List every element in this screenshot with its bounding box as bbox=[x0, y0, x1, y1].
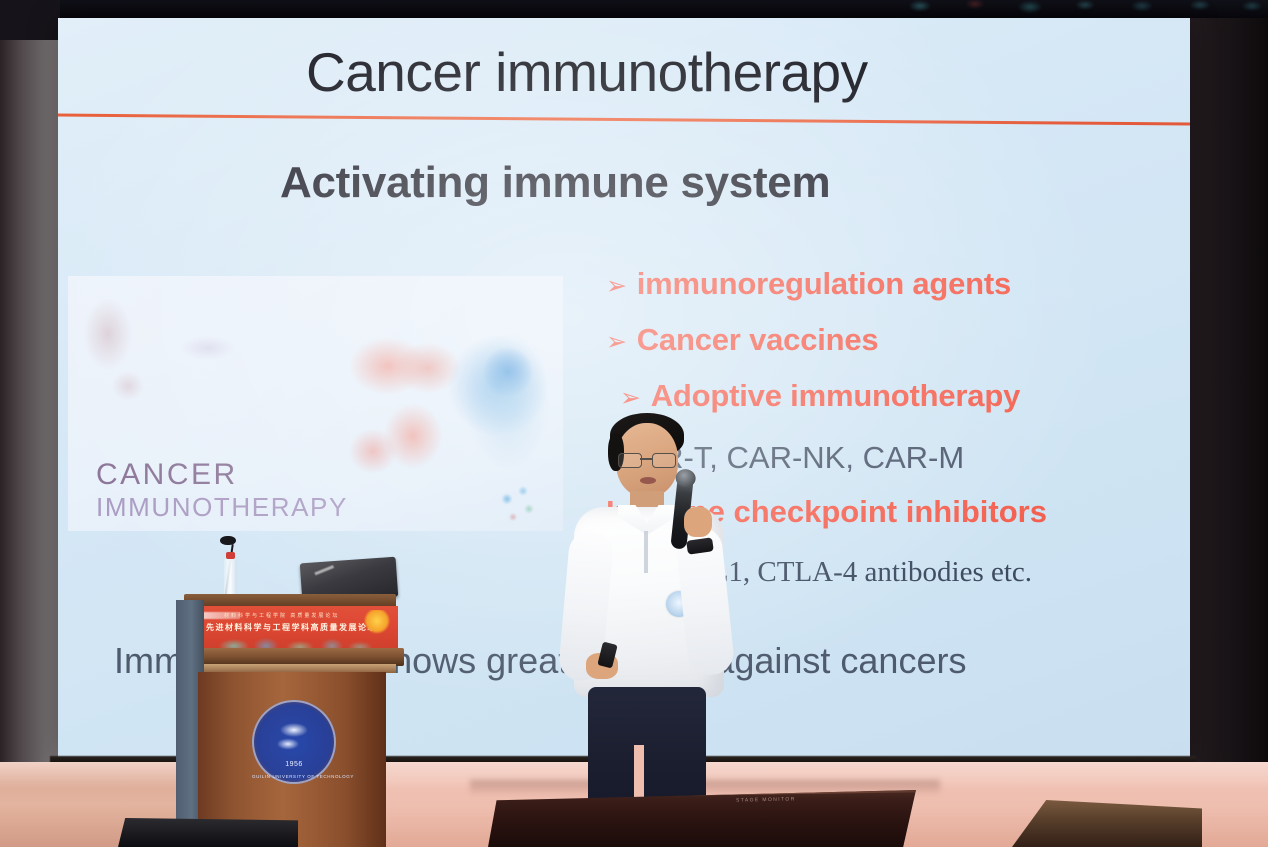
bullet-text: Cancer vaccines bbox=[637, 322, 879, 358]
university-emblem-icon: 1956 GUILIN UNIVERSITY OF TECHNOLOGY bbox=[252, 700, 336, 784]
bullet-item: ➢ immunoregulation agents bbox=[606, 266, 1190, 302]
bullet-item: ➢ Cancer vaccines bbox=[606, 322, 1190, 358]
glasses-right-lens bbox=[652, 453, 676, 468]
emblem-wing-mark bbox=[274, 720, 314, 754]
slide-title: Cancer immunotherapy bbox=[306, 40, 1126, 104]
slide-subtitle: Activating immune system bbox=[280, 158, 1040, 208]
arrow-bullet-icon: ➢ bbox=[606, 330, 627, 355]
speaker-glasses-icon bbox=[618, 453, 676, 466]
arrow-bullet-icon: ➢ bbox=[606, 274, 627, 299]
bullet-item: ➢ Adoptive immunotherapy bbox=[606, 378, 1190, 414]
slide-bullet-list: ➢ immunoregulation agents ➢ Cancer vacci… bbox=[606, 266, 1190, 434]
title-divider-rule bbox=[58, 114, 1190, 126]
banner-anniversary-badge-icon bbox=[364, 610, 390, 634]
emblem-year: 1956 bbox=[252, 761, 336, 768]
blue-cell-illustration bbox=[453, 296, 563, 506]
speaker-shirt-placket bbox=[644, 531, 648, 573]
banner-text-line1: 材料科学与工程学院 高质量发展论坛 bbox=[224, 612, 339, 619]
emblem-ring-text: GUILIN UNIVERSITY OF TECHNOLOGY bbox=[252, 774, 336, 779]
left-wall-panel bbox=[0, 0, 60, 770]
laptop-screen-glint bbox=[314, 565, 334, 575]
podium-banner: 材料科学与工程学院 高质量发展论坛 先进材料科学与工程学科高质量发展论坛 bbox=[186, 606, 398, 650]
illustration-caption-line1: CANCER bbox=[96, 458, 238, 492]
monitor-brand-label: STAGE MONITOR bbox=[736, 796, 796, 803]
stage-monitor-speaker-left bbox=[118, 818, 298, 847]
molecule-cluster-illustration bbox=[493, 479, 545, 527]
speaker-person bbox=[556, 415, 736, 815]
glasses-left-lens bbox=[618, 453, 642, 468]
arrow-bullet-icon: ➢ bbox=[620, 386, 641, 411]
bottle-cap bbox=[226, 552, 235, 559]
slide-illustration-panel: CANCER IMMUNOTHERAPY bbox=[68, 276, 563, 531]
presentation-photo-scene: Cancer immunotherapy Activating immune s… bbox=[0, 0, 1268, 847]
speaker-right-hand bbox=[684, 507, 712, 537]
podium: 材料科学与工程学院 高质量发展论坛 先进材料科学与工程学科高质量发展论坛 195… bbox=[176, 548, 406, 847]
right-wall-panel bbox=[1188, 18, 1268, 768]
microphone-head bbox=[675, 468, 697, 488]
left-wall-top-shadow bbox=[0, 0, 60, 40]
bullet-text: Adoptive immunotherapy bbox=[651, 378, 1020, 414]
speaker-mouth bbox=[640, 477, 656, 484]
illustration-caption-line2: IMMUNOTHERAPY bbox=[96, 492, 348, 523]
podium-microphone-icon bbox=[220, 536, 236, 545]
bullet-text: immunoregulation agents bbox=[637, 266, 1011, 302]
